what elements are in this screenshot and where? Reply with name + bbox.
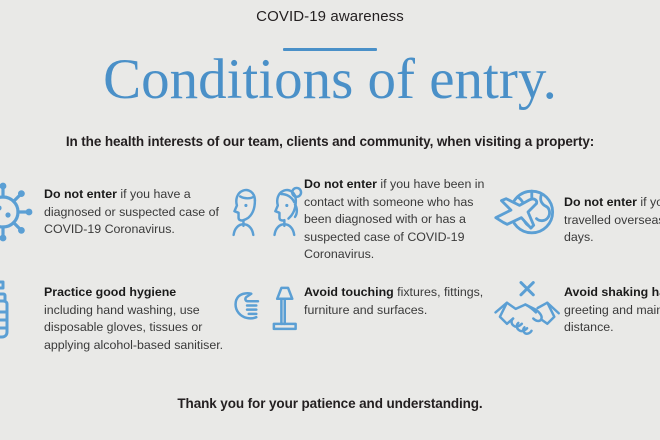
page-title: Conditions of entry. [0, 50, 660, 110]
divider-wrap [0, 38, 660, 44]
condition-body: including hand washing, use disposable g… [44, 303, 223, 352]
hand-lamp-icon [232, 276, 304, 340]
condition-item: Do not enter if you have been in contact… [232, 176, 492, 264]
eyebrow-label: COVID-19 awareness [0, 0, 660, 25]
no-handshake-icon [492, 276, 564, 340]
plane-globe-icon [492, 176, 564, 248]
condition-lead: Avoid touching [304, 285, 394, 299]
condition-lead: Do not enter [564, 195, 637, 209]
condition-lead: Avoid shaking hands [564, 285, 660, 299]
condition-item: Practice good hygiene including hand was… [0, 276, 232, 354]
sanitiser-bottle-icon [0, 276, 44, 340]
condition-item: Avoid shaking hands when greeting and ma… [492, 276, 660, 340]
covid-conditions-poster: COVID-19 awareness Conditions of entry. … [0, 0, 660, 440]
condition-text: Avoid shaking hands when greeting and ma… [564, 276, 660, 337]
condition-text: Practice good hygiene including hand was… [44, 276, 226, 354]
condition-text: Do not enter if you have been in contact… [304, 176, 486, 264]
condition-lead: Practice good hygiene [44, 285, 176, 299]
conditions-grid: Do not enter if you have a diagnosed or … [0, 176, 660, 354]
conditions-row-2: Practice good hygiene including hand was… [0, 276, 660, 354]
subheading: In the health interests of our team, cli… [0, 134, 660, 149]
virus-icon [0, 176, 44, 248]
condition-item: Avoid touching fixtures, fittings, furni… [232, 276, 492, 340]
footer-thanks: Thank you for your patience and understa… [0, 396, 660, 411]
condition-item: Do not enter if you have travelled overs… [492, 176, 660, 248]
condition-text: Avoid touching fixtures, fittings, furni… [304, 276, 486, 319]
condition-lead: Do not enter [304, 177, 377, 191]
condition-item: Do not enter if you have a diagnosed or … [0, 176, 232, 248]
condition-lead: Do not enter [44, 187, 117, 201]
two-people-icon [232, 176, 304, 248]
conditions-row-1: Do not enter if you have a diagnosed or … [0, 176, 660, 264]
condition-text: Do not enter if you have travelled overs… [564, 176, 660, 247]
condition-text: Do not enter if you have a diagnosed or … [44, 176, 226, 239]
